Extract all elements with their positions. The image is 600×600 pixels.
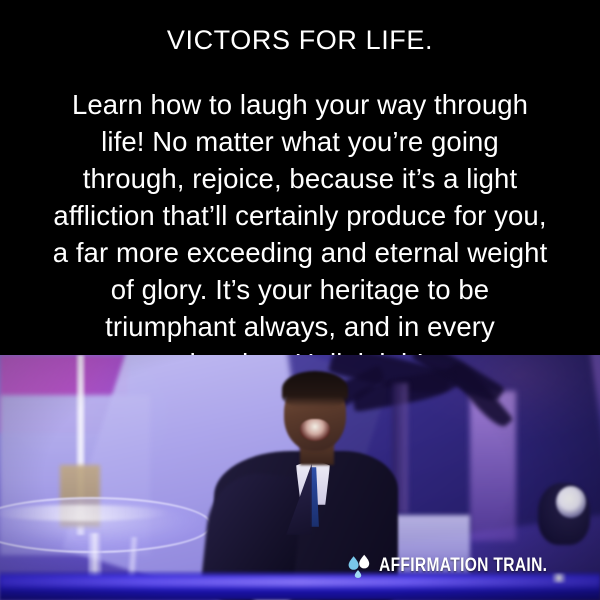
watermark-brand-label: AFFIRMATION TRAIN.	[379, 555, 547, 577]
watermark: AFFIRMATION TRAIN.	[346, 554, 584, 578]
speaker-laughing-mouth	[300, 419, 330, 441]
stage-photo: AFFIRMATION TRAIN.	[0, 355, 600, 600]
speaker-hair	[282, 371, 348, 407]
quote-poster: VICTORS FOR LIFE. Learn how to laugh you…	[0, 0, 600, 600]
stage-edge-glow	[0, 577, 600, 587]
quote-text: Learn how to laugh your way through life…	[50, 86, 550, 382]
text-panel: VICTORS FOR LIFE. Learn how to laugh you…	[0, 0, 600, 355]
water-droplets-icon	[346, 554, 372, 578]
page-title: VICTORS FOR LIFE.	[0, 24, 600, 56]
stage-light-lens	[556, 486, 586, 518]
